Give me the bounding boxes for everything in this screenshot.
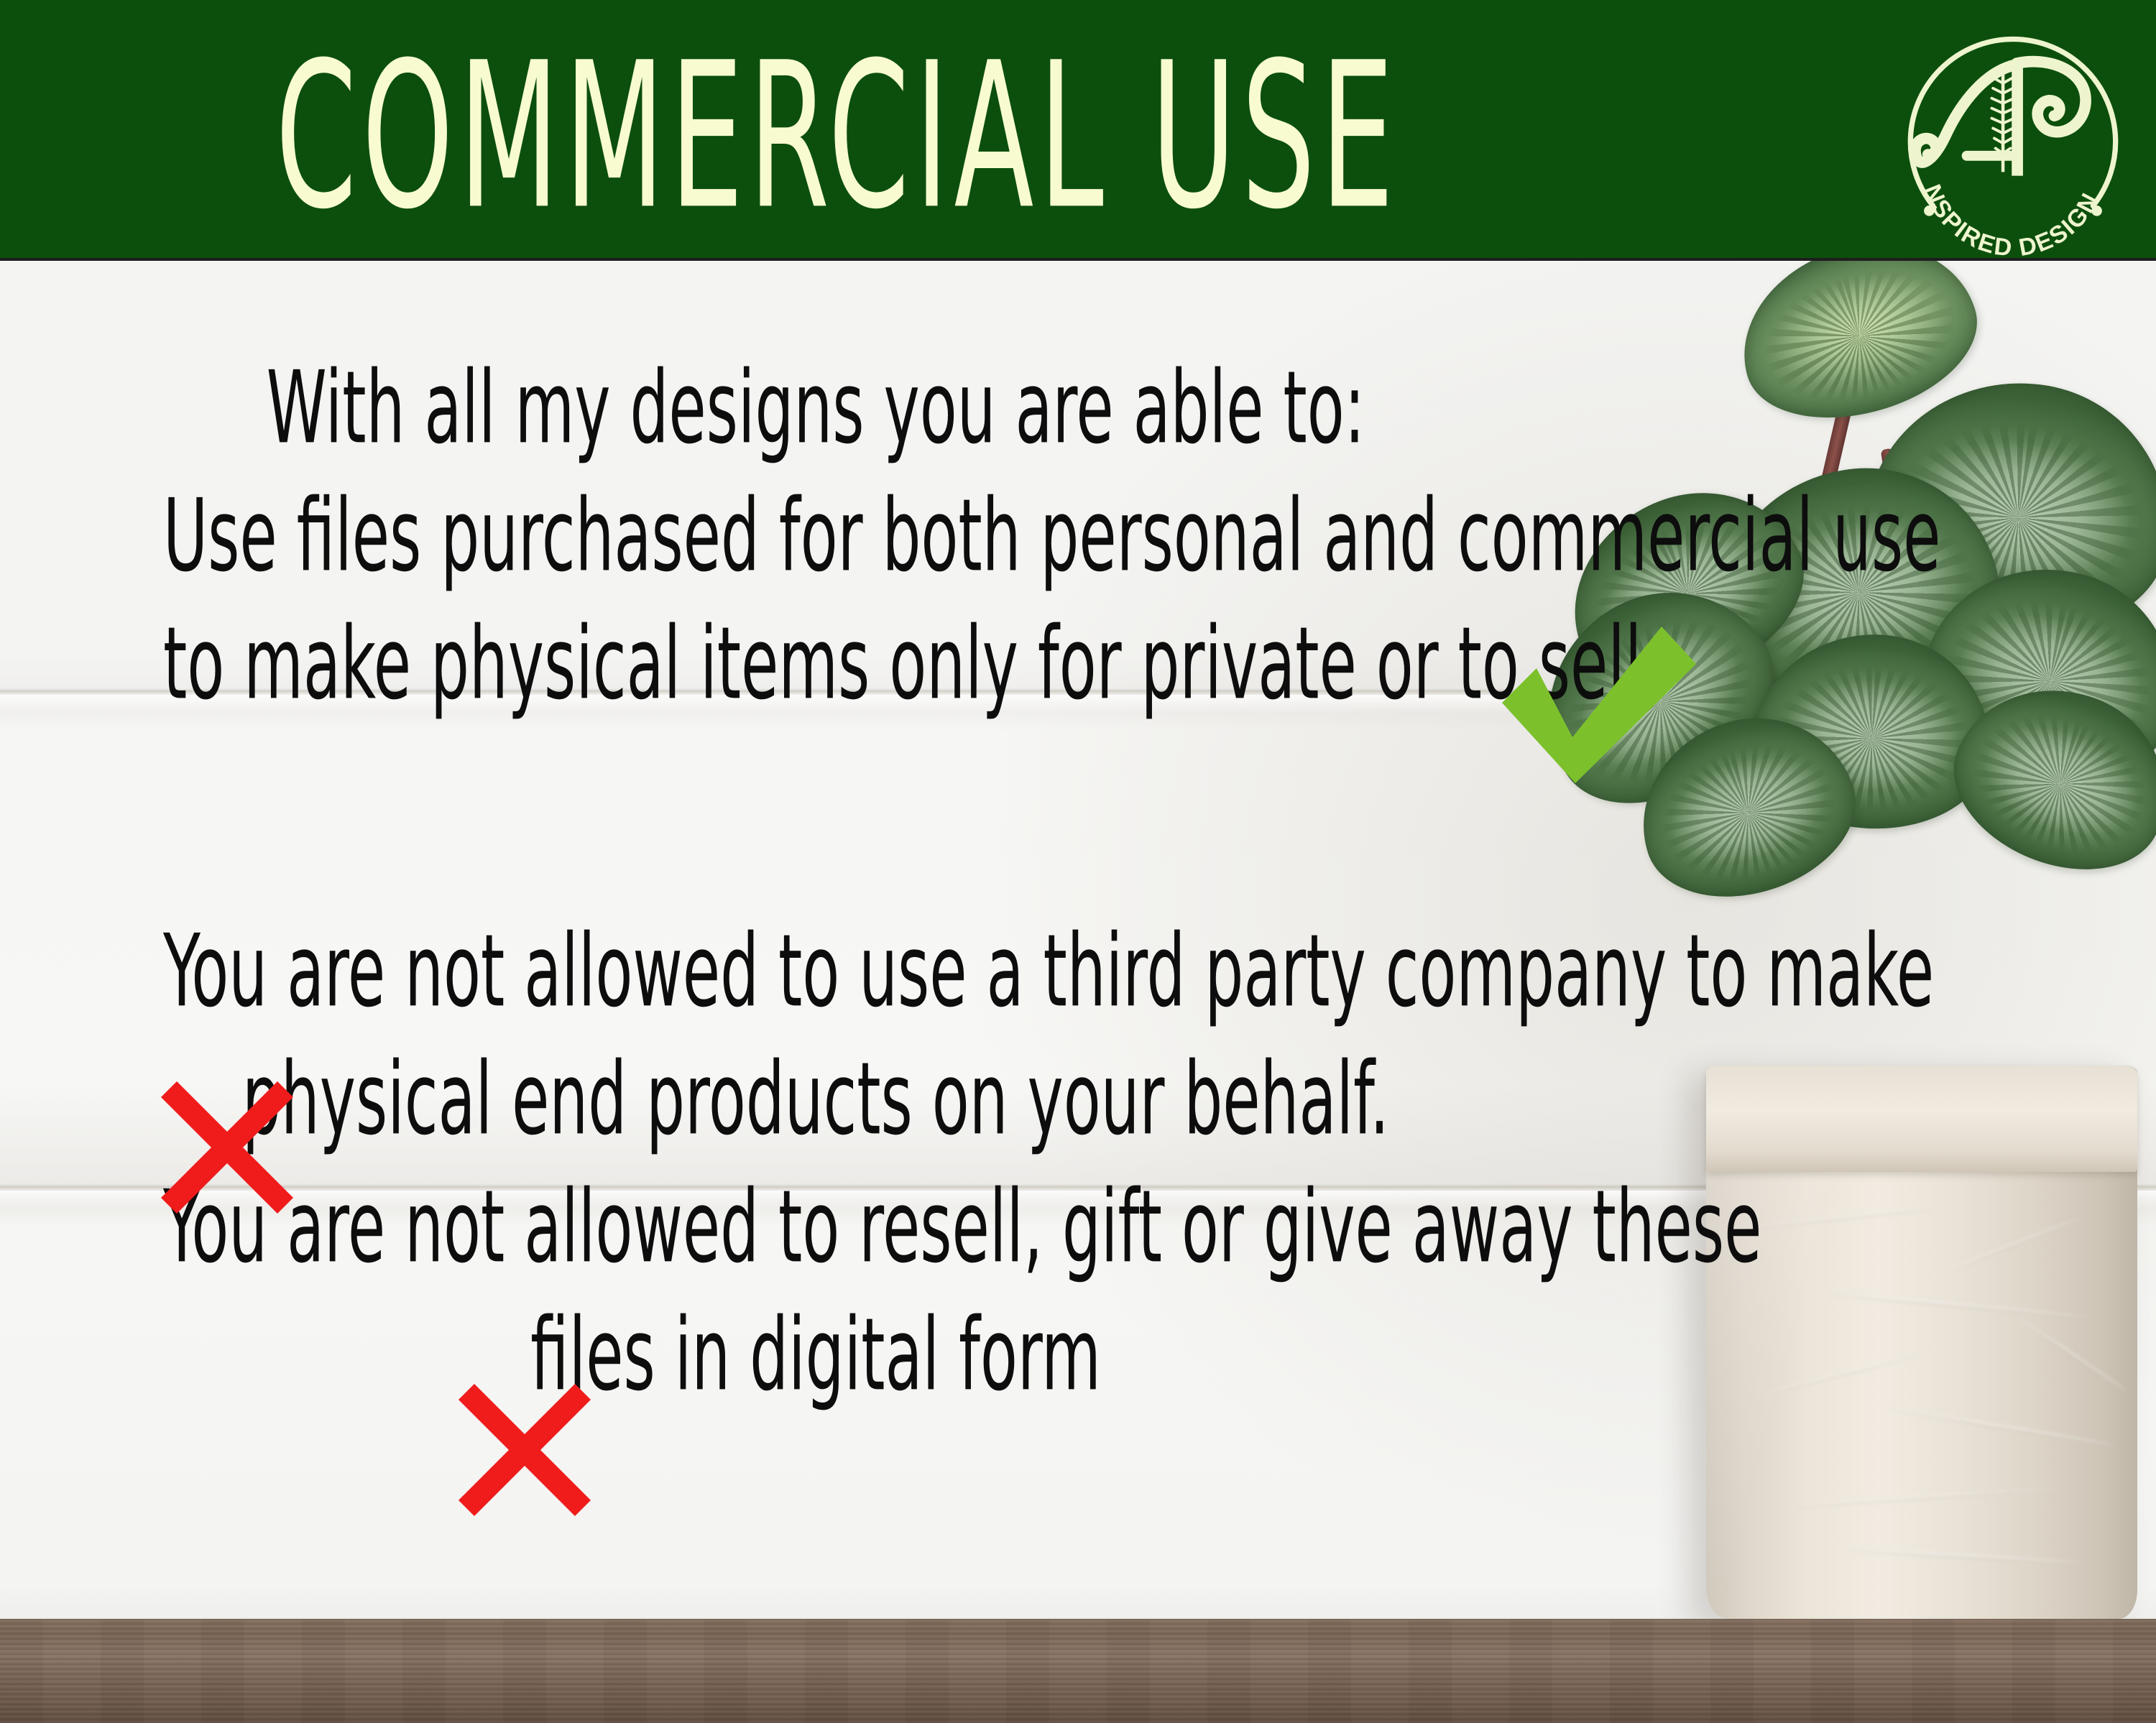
- planter-cuff: [1706, 1066, 2137, 1172]
- brand-logo: INSPIRED DESIGNS: [1888, 6, 2138, 256]
- planter-crease: [2018, 1317, 2127, 1392]
- denied-line-4: files in digital form: [163, 1279, 1468, 1430]
- planter-crease: [1736, 1205, 1950, 1231]
- check-mark-icon: [1492, 622, 1700, 787]
- cross-mark-icon: [453, 1378, 596, 1522]
- cross-mark-icon: [155, 1076, 299, 1219]
- planter-crease: [1843, 1548, 2080, 1564]
- allowed-text-block: With all my designs you are able to: Use…: [0, 343, 1631, 727]
- allowed-line-3: to make physical items only for private …: [163, 588, 1468, 739]
- planter-crease: [1934, 1216, 2082, 1278]
- planter-crease: [1751, 1354, 1920, 1399]
- planter-crease: [1771, 1487, 2058, 1510]
- page-title: COMMERCIAL USE: [234, 16, 1440, 257]
- wood-shelf: [0, 1619, 2156, 1723]
- planter-crease: [1887, 1407, 2115, 1447]
- header-banner: COMMERCIAL USE: [0, 0, 2156, 261]
- commercial-use-poster: COMMERCIAL USE: [0, 0, 2156, 1723]
- wood-shelf-edge: [0, 1619, 2156, 1622]
- paper-bag-planter: [1706, 1066, 2137, 1619]
- planter-crease: [1814, 1290, 2086, 1318]
